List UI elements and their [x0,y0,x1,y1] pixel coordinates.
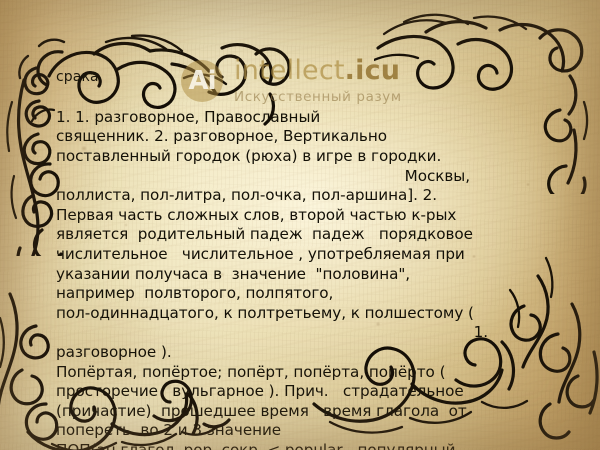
entry-line: попереть во 2 и 3 значение [56,421,576,441]
entry-line: Москвы, [56,167,576,187]
entry-line: числительное числительное , употребляема… [56,245,576,265]
entry-line: 1. 1. разговорное, Православный [56,108,576,128]
entry-line: Первая часть сложных слов, второй частью… [56,206,576,226]
parchment-page: Ai intellect.icu Искусственный разум сра… [0,0,600,450]
entry-line: например полвторого, полпятого, [56,284,576,304]
entry-line: Попёртая, попёртое; попёрт, попёрта, поп… [56,363,576,383]
entry-line: просторечие вульгарное ). Прич. страдате… [56,382,576,402]
entry-line: указании получаса в значение "половина", [56,265,576,285]
entry-line: пол-одиннадцатого, к полтретьему, к полш… [56,304,576,324]
entry-line: 1. [56,323,576,343]
entry-line: разговорное ). [56,343,576,363]
entry-line: является родительный падеж падеж порядко… [56,225,576,245]
entry-line: поставленный городок (рюха) в игре в гор… [56,147,576,167]
entry-line: поллиста, пол-литра, пол-очка, пол-аршин… [56,186,576,206]
dictionary-entry: срака 1. 1. разговорное, Православный св… [56,68,576,450]
entry-headword: срака [56,68,576,87]
entry-line: священник. 2. разговорное, Вертикально [56,127,576,147]
entry-line: (причастие) прошедшее время время глагол… [56,402,576,422]
entry-line: ПОП(ан глагол pop, сокр. < popular - поп… [56,441,576,450]
